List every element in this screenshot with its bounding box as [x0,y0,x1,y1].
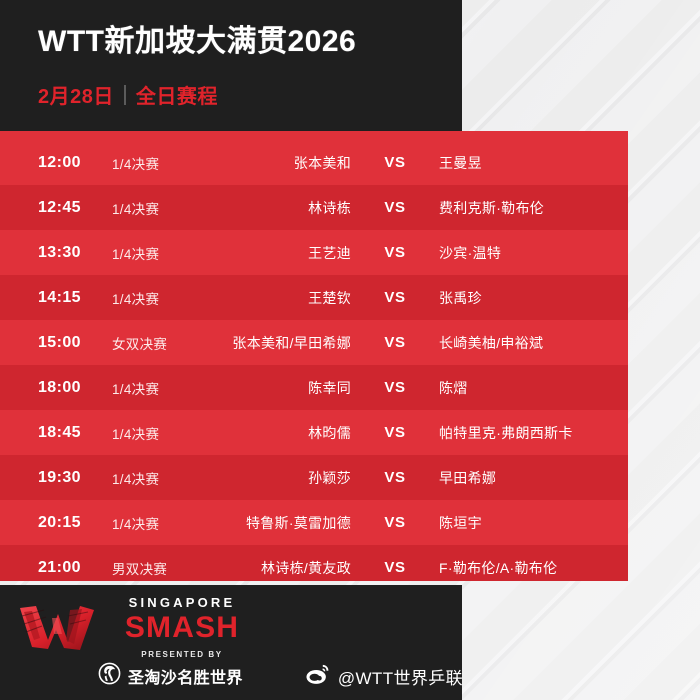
table-row: 20:151/4决赛特鲁斯·莫雷加德VS陈垣宇 [0,500,628,545]
schedule-poster: WTT新加坡大满贯2026 2月28日 全日赛程 12:001/4决赛张本美和V… [0,0,700,700]
table-row: 19:301/4决赛孙颖莎VS早田希娜 [0,455,628,500]
table-row: 15:00女双决赛张本美和/早田希娜VS长崎美柚/申裕斌 [0,320,628,365]
match-round: 1/4决赛 [112,198,212,218]
match-vs-label: VS [367,379,423,396]
match-player-home: 孙颖莎 [212,468,367,488]
table-row: 21:00男双决赛林诗栋/黄友政VSF·勒布伦/A·勒布伦 [0,545,628,581]
rws-peacock-icon [98,662,121,690]
match-player-home: 王楚钦 [212,288,367,308]
match-vs-label: VS [367,559,423,576]
match-time: 20:15 [0,514,112,532]
match-time: 14:15 [0,289,112,307]
smash-w-mark-icon [18,600,96,652]
table-row: 12:451/4决赛林诗栋VS费利克斯·勒布伦 [0,185,628,230]
logo-line-presented-by: PRESENTED BY [141,650,222,659]
table-row: 18:451/4决赛林昀儒VS帕特里克·弗朗西斯卡 [0,410,628,455]
match-player-home: 陈幸同 [212,378,367,398]
match-vs-label: VS [367,334,423,351]
match-player-away: 沙宾·温特 [423,243,628,263]
match-player-away: 帕特里克·弗朗西斯卡 [423,423,628,443]
match-player-home: 王艺迪 [212,243,367,263]
header-panel [0,0,462,131]
match-vs-label: VS [367,244,423,261]
weibo-icon[interactable] [305,663,331,690]
match-time: 13:30 [0,244,112,262]
match-time: 19:30 [0,469,112,487]
table-row: 14:151/4决赛王楚钦VS张禹珍 [0,275,628,320]
match-vs-label: VS [367,199,423,216]
match-time: 18:00 [0,379,112,397]
schedule-table: 12:001/4决赛张本美和VS王曼昱12:451/4决赛林诗栋VS费利克斯·勒… [0,131,628,581]
match-player-away: 早田希娜 [423,468,628,488]
table-row: 18:001/4决赛陈幸同VS陈熠 [0,365,628,410]
match-time: 21:00 [0,559,112,577]
logo-line-singapore: SINGAPORE [129,595,236,610]
match-player-away: 张禹珍 [423,288,628,308]
sponsor-rwsentosa: 圣淘沙名胜世界 [98,662,243,690]
table-row: 13:301/4决赛王艺迪VS沙宾·温特 [0,230,628,275]
match-vs-label: VS [367,514,423,531]
match-player-home: 林诗栋/黄友政 [212,558,367,578]
match-time: 12:45 [0,199,112,217]
match-vs-label: VS [367,289,423,306]
page-title: WTT新加坡大满贯2026 [38,26,356,58]
smash-wordmark: SINGAPORE SMASH PRESENTED BY [102,594,262,662]
match-round: 1/4决赛 [112,243,212,263]
match-player-home: 张本美和 [212,153,367,173]
footer-sponsor-row: 圣淘沙名胜世界 @WTT世界乒联 [98,662,463,690]
match-player-away: 费利克斯·勒布伦 [423,198,628,218]
logo-line-smash: SMASH [125,611,239,644]
match-player-away: 陈熠 [423,378,628,398]
match-round: 1/4决赛 [112,423,212,443]
match-round: 1/4决赛 [112,153,212,173]
schedule-rows: 12:001/4决赛张本美和VS王曼昱12:451/4决赛林诗栋VS费利克斯·勒… [0,140,628,581]
match-player-home: 特鲁斯·莫雷加德 [212,513,367,533]
match-player-home: 张本美和/早田希娜 [212,333,367,353]
match-time: 15:00 [0,334,112,352]
match-player-away: 王曼昱 [423,153,628,173]
weibo-handle[interactable]: @WTT世界乒联 [338,664,463,689]
match-vs-label: VS [367,424,423,441]
match-vs-label: VS [367,154,423,171]
sponsor-name: 圣淘沙名胜世界 [128,664,243,688]
subtitle-divider [124,85,126,105]
match-player-away: F·勒布伦/A·勒布伦 [423,558,628,578]
match-player-away: 陈垣宇 [423,513,628,533]
match-round: 1/4决赛 [112,513,212,533]
social-weibo[interactable]: @WTT世界乒联 [305,663,463,690]
match-player-home: 林诗栋 [212,198,367,218]
schedule-date: 2月28日 [38,80,114,109]
match-round: 女双决赛 [112,333,212,353]
match-round: 1/4决赛 [112,288,212,308]
match-round: 男双决赛 [112,558,212,578]
subtitle-row: 2月28日 全日赛程 [38,80,218,109]
match-round: 1/4决赛 [112,378,212,398]
match-player-away: 长崎美柚/申裕斌 [423,333,628,353]
table-row: 12:001/4决赛张本美和VS王曼昱 [0,140,628,185]
match-round: 1/4决赛 [112,468,212,488]
match-player-home: 林昀儒 [212,423,367,443]
match-time: 12:00 [0,154,112,172]
event-logo: SINGAPORE SMASH PRESENTED BY [18,594,268,660]
match-vs-label: VS [367,469,423,486]
match-time: 18:45 [0,424,112,442]
session-label: 全日赛程 [136,80,218,109]
